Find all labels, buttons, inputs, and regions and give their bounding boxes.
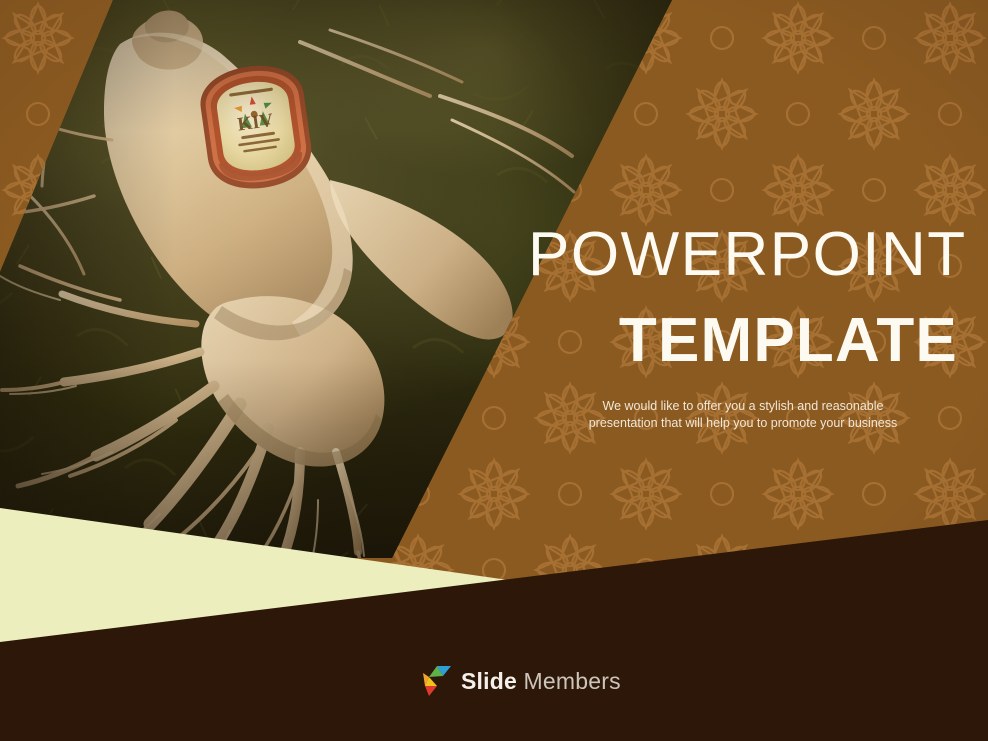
tagline: We would like to offer you a stylish and… (528, 398, 958, 432)
brand-name-bold: Slide (461, 668, 517, 694)
page-title: POWERPOINT (528, 222, 958, 288)
brand-logo[interactable]: Slide Members (421, 664, 621, 698)
headline-block: POWERPOINT TEMPLATE We would like to off… (528, 222, 958, 432)
tagline-line-1: We would like to offer you a stylish and… (528, 398, 958, 415)
pinwheel-hexagon-logo-icon (421, 664, 453, 698)
brand-name: Slide Members (461, 670, 621, 693)
title-slide: KIV POWERPOINT TEMPLATE We would like to… (0, 0, 988, 741)
brand-name-light: Members (517, 668, 621, 694)
page-subtitle: TEMPLATE (528, 306, 958, 376)
tagline-line-2: presentation that will help you to promo… (528, 415, 958, 432)
